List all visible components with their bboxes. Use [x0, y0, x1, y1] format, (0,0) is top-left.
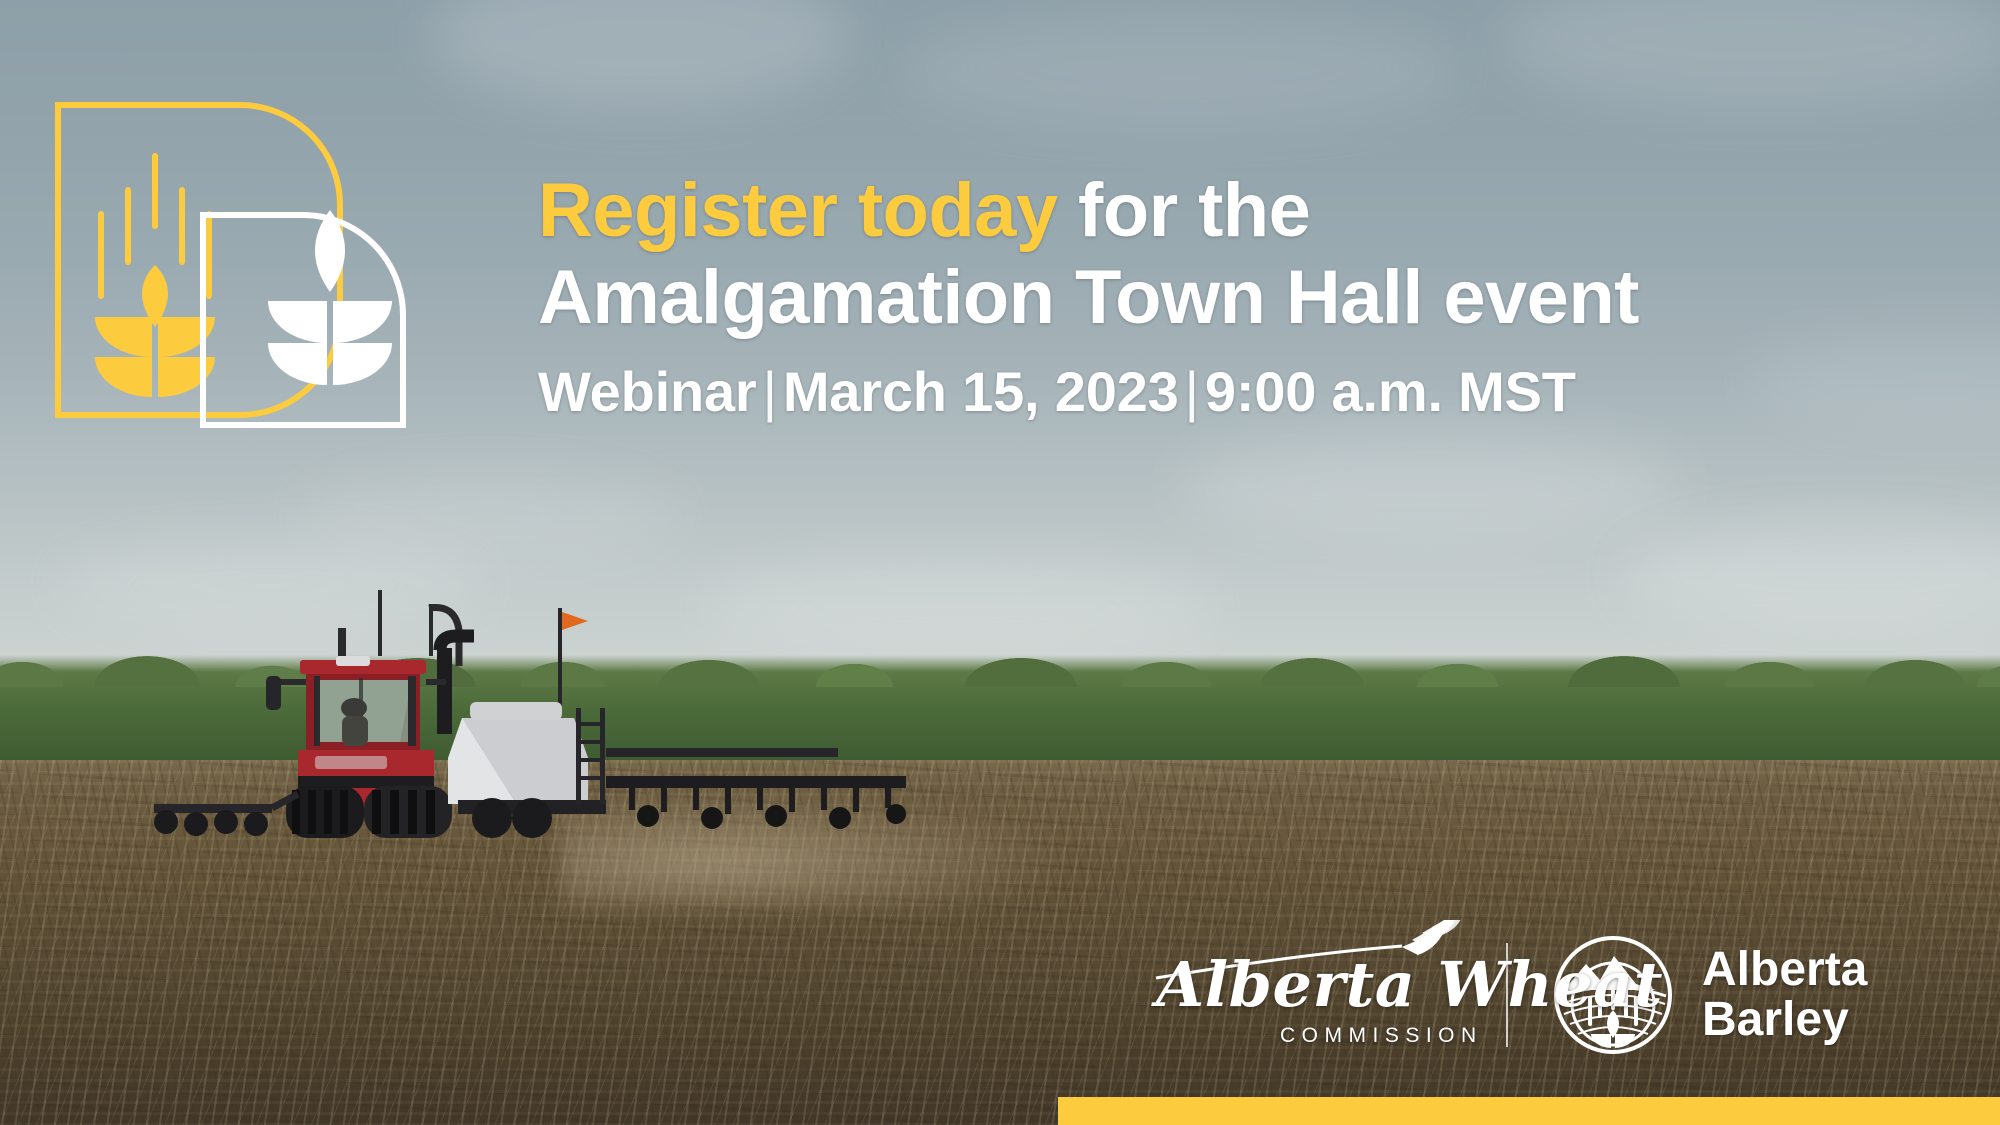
alberta-wheat-script: Alberta Wheat: [1156, 948, 1663, 1021]
cloud: [900, 10, 1460, 130]
alberta-barley-wordmark: Alberta Barley: [1702, 945, 1867, 1045]
headline-block: Register today for theAmalgamation Town …: [538, 168, 1958, 423]
page-title: Register today for theAmalgamation Town …: [538, 168, 1958, 341]
tractor-icon: [140, 590, 960, 840]
event-format: Webinar: [538, 360, 757, 423]
wheat-sheaf-icon: [95, 153, 215, 397]
brand-lockup: [40, 95, 500, 465]
detail-separator: |: [1179, 360, 1205, 423]
alberta-barley-line1: Alberta: [1702, 943, 1867, 996]
detail-separator: |: [757, 360, 783, 423]
footer-logos: Alberta Wheat COMMISSION: [1150, 915, 1950, 1075]
headline-accent: Register today: [538, 168, 1058, 253]
bottom-accent-bar: [1058, 1097, 2000, 1125]
alberta-wheat-commission-logo: Alberta Wheat COMMISSION: [1150, 920, 1480, 1070]
event-details: Webinar|March 15, 2023|9:00 a.m. MST: [538, 361, 1958, 423]
alberta-barley-line2: Barley: [1702, 993, 1849, 1046]
event-date: March 15, 2023: [783, 360, 1179, 423]
headline-rest: for the: [1058, 168, 1311, 253]
commission-subtitle: COMMISSION: [1280, 1024, 1483, 1048]
headline-line2: Amalgamation Town Hall event: [538, 255, 1639, 340]
event-time: 9:00 a.m. MST: [1205, 360, 1576, 423]
tractor-rig: [140, 590, 960, 840]
promo-banner: Register today for theAmalgamation Town …: [0, 0, 2000, 1125]
cloud: [1180, 430, 1680, 540]
